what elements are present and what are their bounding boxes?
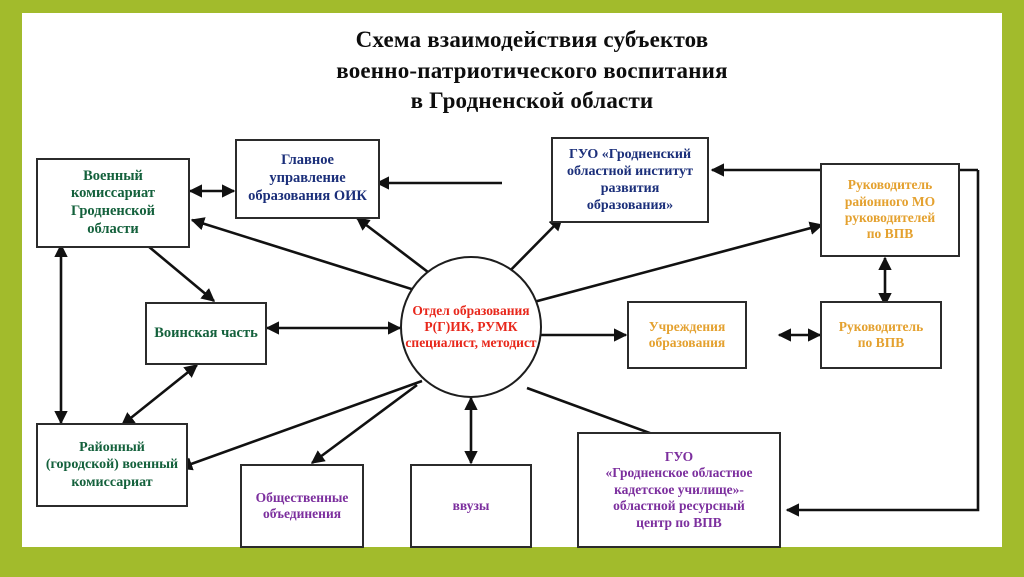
node-rukovoditel-vpv[interactable]: Руководитель по ВПВ — [820, 301, 942, 369]
arrow-rayonnyy-voinskaya — [122, 365, 197, 425]
node-label: Главное управление образования ОИК — [248, 152, 367, 205]
node-voinskaya-chast[interactable]: Воинская часть — [145, 302, 267, 365]
node-guo-kadetskoe[interactable]: ГУО «Гродненское областное кадетское учи… — [577, 432, 781, 548]
node-rayonnyy-voenkomat[interactable]: Районный (городской) военный комиссариат — [36, 423, 188, 507]
node-label: Районный (городской) военный комиссариат — [46, 439, 178, 490]
node-label: Учреждения образования — [649, 319, 726, 352]
node-rukovoditel-mo[interactable]: Руководитель районного МО руководителей … — [820, 163, 960, 257]
node-label: Воинская часть — [154, 325, 258, 343]
node-guo-institut[interactable]: ГУО «Гродненский областной институт разв… — [551, 137, 709, 223]
diagram-canvas: Схема взаимодействия субъектов военно-па… — [22, 13, 1002, 547]
node-obshchestvennye[interactable]: Общественные объединения — [240, 464, 364, 548]
node-vvuzy[interactable]: ввузы — [410, 464, 532, 548]
frame-top-band — [0, 0, 1024, 13]
node-label: Руководитель районного МО руководителей … — [845, 177, 935, 243]
frame-left-band — [0, 0, 22, 577]
arrow-center-obshchestvennye — [312, 385, 417, 463]
node-label: Общественные объединения — [256, 490, 349, 523]
arrow-center-voenkomat — [192, 220, 440, 298]
node-label: ГУО «Гродненское областное кадетское учи… — [605, 449, 752, 531]
node-center-otdel-obrazovaniya[interactable]: Отдел образования Р(Г)ИК, РУМК специалис… — [400, 256, 542, 398]
node-voenkomat-oblast[interactable]: Военный комиссариат Гродненской области — [36, 158, 190, 248]
arrow-center-rukovoditel-mo — [500, 225, 822, 311]
node-label: ввузы — [453, 498, 490, 514]
arrow-voenkomat-voinskaya — [142, 241, 214, 301]
arrow-center-rayonnyy — [180, 381, 422, 468]
node-label: Отдел образования Р(Г)ИК, РУМК специалис… — [402, 303, 540, 352]
node-glavnoe-upravlenie[interactable]: Главное управление образования ОИК — [235, 139, 380, 219]
node-label: ГУО «Гродненский областной институт разв… — [567, 146, 693, 214]
diagram-page: Схема взаимодействия субъектов военно-па… — [0, 0, 1024, 577]
node-label: Военный комиссариат Гродненской области — [71, 168, 155, 239]
frame-right-band — [1002, 0, 1024, 577]
node-uchrezhdeniya[interactable]: Учреждения образования — [627, 301, 747, 369]
frame-bottom-band — [0, 547, 1024, 577]
node-label: Руководитель по ВПВ — [839, 319, 924, 352]
